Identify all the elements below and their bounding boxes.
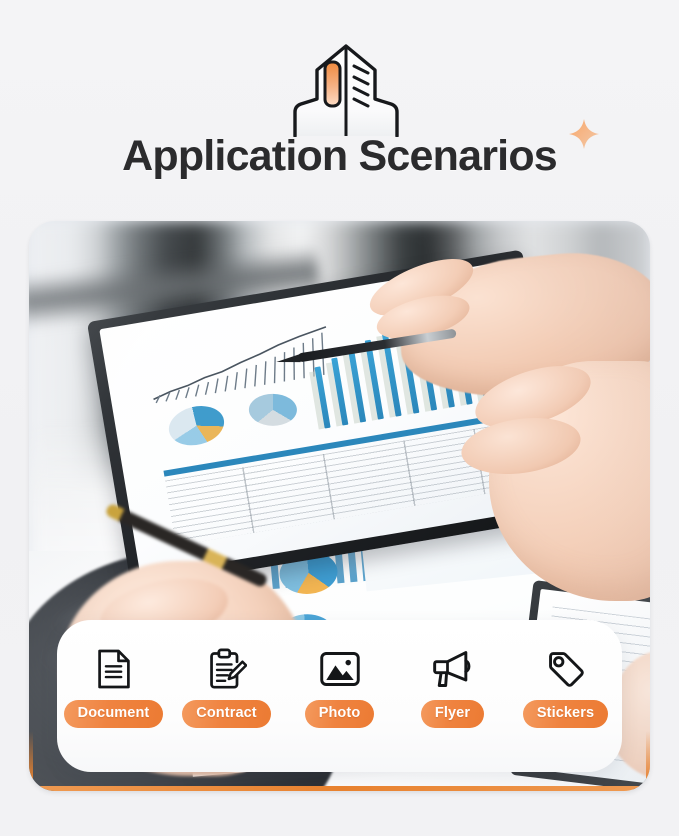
document-icon bbox=[96, 646, 132, 692]
page-title: Application Scenarios bbox=[122, 128, 557, 184]
badge-label: Stickers bbox=[523, 700, 608, 728]
contract-clipboard-pencil-icon bbox=[207, 646, 247, 692]
scenario-badge-panel: Document Contract bbox=[57, 620, 622, 772]
hand-with-pen bbox=[449, 341, 650, 611]
badge-label: Document bbox=[64, 700, 164, 728]
badge-item-flyer[interactable]: Flyer bbox=[399, 646, 507, 728]
badge-row: Document Contract bbox=[57, 646, 622, 728]
price-tag-icon bbox=[546, 646, 586, 692]
card-accent-edge-left bbox=[29, 731, 33, 791]
badge-item-photo[interactable]: Photo bbox=[286, 646, 394, 728]
badge-item-stickers[interactable]: Stickers bbox=[512, 646, 620, 728]
sparkle-icon bbox=[567, 117, 601, 151]
page-root: Application Scenarios bbox=[0, 0, 679, 836]
badge-label: Flyer bbox=[421, 700, 484, 728]
badge-label: Contract bbox=[182, 700, 270, 728]
building-icon bbox=[287, 42, 405, 137]
page-header: Application Scenarios bbox=[0, 0, 679, 210]
megaphone-icon bbox=[431, 646, 475, 692]
badge-item-contract[interactable]: Contract bbox=[173, 646, 281, 728]
report-pie-chart-2 bbox=[249, 394, 297, 426]
photo-image-icon bbox=[319, 646, 361, 692]
badge-item-document[interactable]: Document bbox=[60, 646, 168, 728]
card-accent-edge-right bbox=[646, 731, 650, 791]
badge-label: Photo bbox=[305, 700, 375, 728]
report-pie-chart-1 bbox=[165, 401, 228, 451]
